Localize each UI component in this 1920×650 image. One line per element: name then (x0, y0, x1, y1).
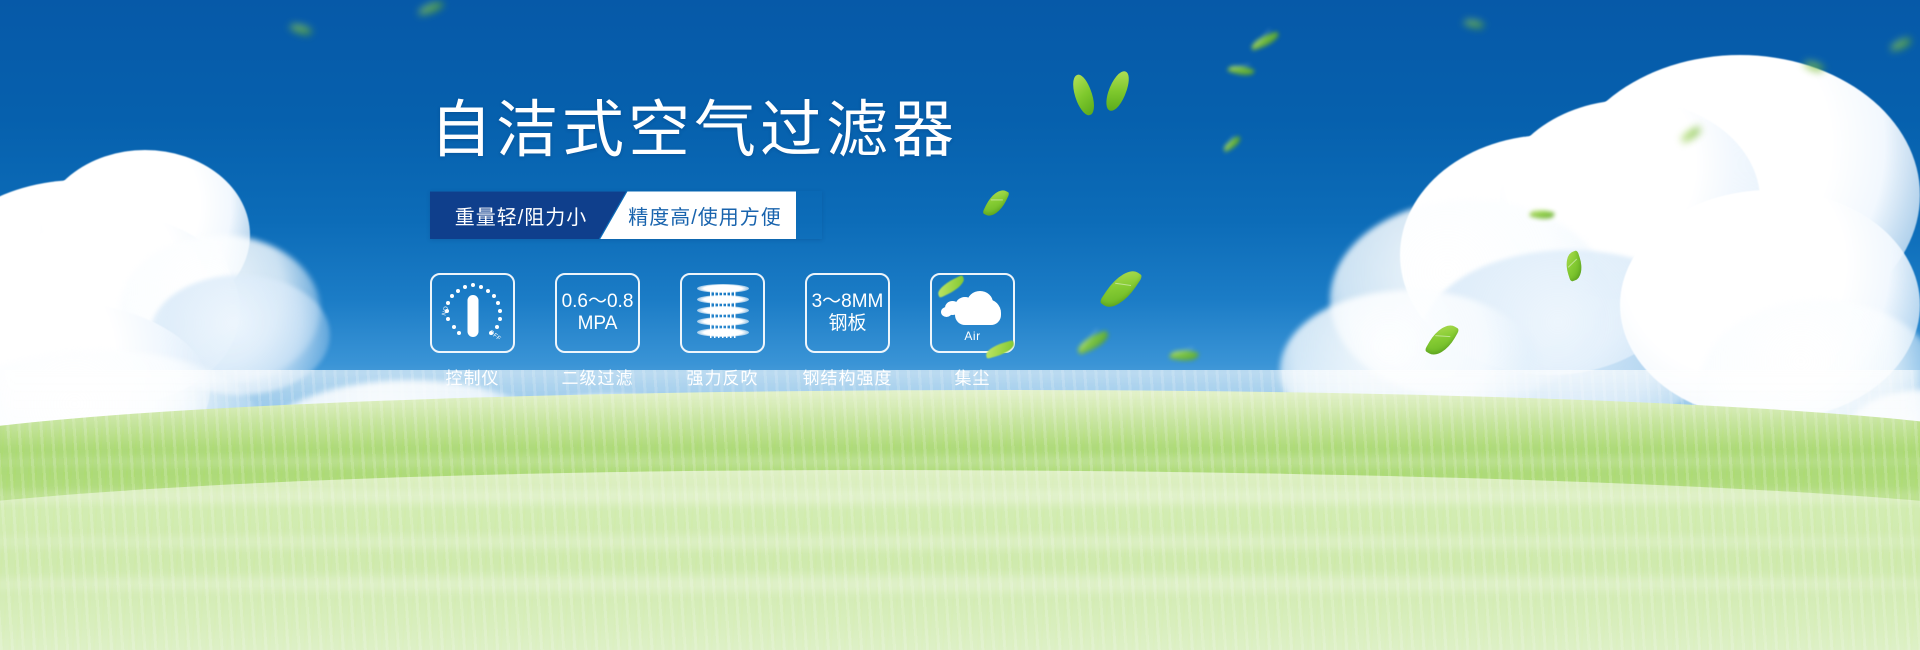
feature-controller[interactable]: NO OFF 控制仪 (430, 273, 515, 389)
tab-precision-convenience[interactable]: 精度高/使用方便 (600, 191, 796, 239)
gauge-icon: NO OFF (442, 283, 504, 343)
feature-caption: 控制仪 (446, 364, 500, 389)
title-leaf-pair-icon (1073, 70, 1143, 118)
feature-icon-box: 0.6～0.8 MPA (555, 273, 640, 353)
filter-cartridge-icon (697, 284, 749, 342)
tab-weight-resistance[interactable]: 重量轻/阻力小 (430, 191, 626, 239)
feature-icon-box (680, 273, 765, 353)
feature-caption: 强力反吹 (687, 364, 759, 389)
gauge-on-label: NO (441, 306, 450, 317)
feature-caption: 集尘 (955, 364, 991, 389)
feature-icon-box: Air (930, 273, 1015, 353)
feature-icon-box: 3～8MM 钢板 (805, 273, 890, 353)
feature-two-stage-filter[interactable]: 0.6～0.8 MPA 二级过滤 (555, 273, 640, 389)
feature-caption: 二级过滤 (562, 364, 634, 389)
banner-content: 自洁式空气过滤器 重量轻/阻力小 精度高/使用方便 (430, 96, 1190, 389)
air-cloud-icon: Air (941, 285, 1005, 341)
tagline-tabs: 重量轻/阻力小 精度高/使用方便 (430, 191, 822, 239)
feature-list: NO OFF 控制仪 0.6～0.8 MPA 二级过滤 (430, 273, 1190, 389)
steel-plate-text-icon: 3～8MM 钢板 (812, 291, 884, 335)
hero-banner: 自洁式空气过滤器 重量轻/阻力小 精度高/使用方便 (0, 0, 1920, 650)
steel-material: 钢板 (812, 313, 884, 335)
gauge-off-label: OFF (488, 330, 502, 343)
air-label: Air (941, 329, 1005, 343)
grass-texture (0, 370, 1920, 650)
feature-strong-backblow[interactable]: 强力反吹 (680, 273, 765, 389)
grass-field (0, 370, 1920, 650)
pressure-range: 0.6～0.8 (562, 291, 634, 313)
steel-thickness: 3～8MM (812, 291, 884, 313)
feature-icon-box: NO OFF (430, 273, 515, 353)
feature-dust-collection[interactable]: Air 集尘 (930, 273, 1015, 389)
pressure-unit: MPA (562, 313, 634, 335)
feature-caption: 钢结构强度 (803, 364, 893, 389)
pressure-text-icon: 0.6～0.8 MPA (562, 291, 634, 335)
feature-steel-strength[interactable]: 3～8MM 钢板 钢结构强度 (805, 273, 890, 389)
